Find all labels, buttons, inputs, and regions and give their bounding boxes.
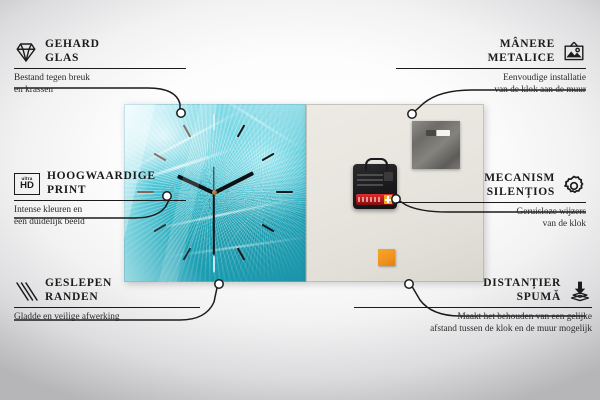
feature-desc-line1: Maakt het behouden van een gelijke (332, 312, 592, 324)
feature-title-line2: RANDEN (45, 291, 112, 305)
feature-header: DISTANȚIER SPUMĂ (332, 277, 592, 304)
diamond-icon (14, 40, 38, 64)
feature-title-line2: PRINT (47, 184, 156, 198)
down-arrow-layers-icon (568, 279, 592, 303)
feature-title-line1: HOOGWAARDIGE (47, 170, 156, 184)
foam-spacer (378, 249, 395, 266)
ultra-hd-icon: ultra HD (14, 173, 40, 195)
feature-desc-line1: Geruisloze wijzers (376, 207, 586, 219)
feature-rule (14, 68, 186, 69)
feature-header: GEHARD GLAS (14, 38, 214, 65)
feature-title-line2: METALICE (488, 52, 555, 66)
feature-header: MÂNERE METALICE (376, 38, 586, 65)
feature-manere-metalice: MÂNERE METALICE Eenvoudige installatie v… (376, 38, 586, 96)
feature-desc: Maakt het behouden van een gelijke afsta… (332, 312, 592, 335)
hanger-slot (426, 130, 450, 136)
feature-desc: Eenvoudige installatie van de klok aan d… (376, 73, 586, 96)
feature-title: GEHARD GLAS (45, 38, 100, 65)
feature-desc-line1: Eenvoudige installatie (376, 73, 586, 85)
feature-title-line2: GLAS (45, 52, 100, 66)
feature-rule (396, 202, 586, 203)
feature-title-line1: GESLEPEN (45, 277, 112, 291)
feature-rule (396, 68, 586, 69)
feature-header: GESLEPEN RANDEN (14, 277, 224, 304)
feature-title: DISTANȚIER SPUMĂ (483, 277, 561, 304)
feature-desc-line1: Gladde en veilige afwerking (14, 312, 224, 324)
feature-title: MÂNERE METALICE (488, 38, 555, 65)
feature-title-line1: MECANISM (484, 172, 555, 186)
feature-rule (14, 307, 200, 308)
feature-title: HOOGWAARDIGE PRINT (47, 170, 156, 197)
product-infographic: GEHARD GLAS Bestand tegen breuk en krass… (0, 0, 600, 400)
feature-title-line1: GEHARD (45, 38, 100, 52)
feature-desc: Bestand tegen breuk en krassen (14, 73, 214, 96)
feature-distantier-spuma: DISTANȚIER SPUMĂ Maakt het behouden van … (332, 277, 592, 335)
feature-mecanism-silentios: MECANISM SILENȚIOS Geruisloze wijzers va… (376, 172, 586, 230)
feature-header: ultra HD HOOGWAARDIGE PRINT (14, 170, 214, 197)
feature-desc-line2: en krassen (14, 85, 214, 97)
feature-desc: Intense kleuren en een duidelijk beeld (14, 205, 214, 228)
gear-icon (562, 174, 586, 198)
feature-desc-line2: van de klok aan de muur (376, 85, 586, 97)
feature-title-line1: MÂNERE (500, 38, 555, 52)
feature-desc: Gladde en veilige afwerking (14, 312, 224, 324)
feature-desc-line2: van de klok (376, 219, 586, 231)
feature-desc-line1: Intense kleuren en (14, 205, 214, 217)
feature-hoogwaardige-print: ultra HD HOOGWAARDIGE PRINT Intense kleu… (14, 170, 214, 228)
feature-desc-line1: Bestand tegen breuk (14, 73, 214, 85)
feature-rule (14, 200, 186, 201)
bevelled-edges-icon (14, 279, 38, 303)
mechanism-hanging-loop (365, 158, 388, 171)
feature-desc-line2: afstand tussen de klok en de muur mogeli… (332, 324, 592, 336)
feature-rule (354, 307, 592, 308)
ultra-hd-icon-bottom-text: HD (15, 181, 39, 191)
feature-title-line1: DISTANȚIER (483, 277, 561, 291)
picture-frame-icon (562, 40, 586, 64)
feature-title-line2: SILENȚIOS (487, 186, 555, 200)
feature-desc: Geruisloze wijzers van de klok (376, 207, 586, 230)
metal-hanger-plate (412, 121, 460, 169)
feature-gehard-glas: GEHARD GLAS Bestand tegen breuk en krass… (14, 38, 214, 96)
feature-title-line2: SPUMĂ (517, 291, 561, 305)
feature-header: MECANISM SILENȚIOS (376, 172, 586, 199)
feature-desc-line2: een duidelijk beeld (14, 217, 214, 229)
feature-title: GESLEPEN RANDEN (45, 277, 112, 304)
feature-title: MECANISM SILENȚIOS (484, 172, 555, 199)
feature-geslepen-randen: GESLEPEN RANDEN Gladde en veilige afwerk… (14, 277, 224, 324)
